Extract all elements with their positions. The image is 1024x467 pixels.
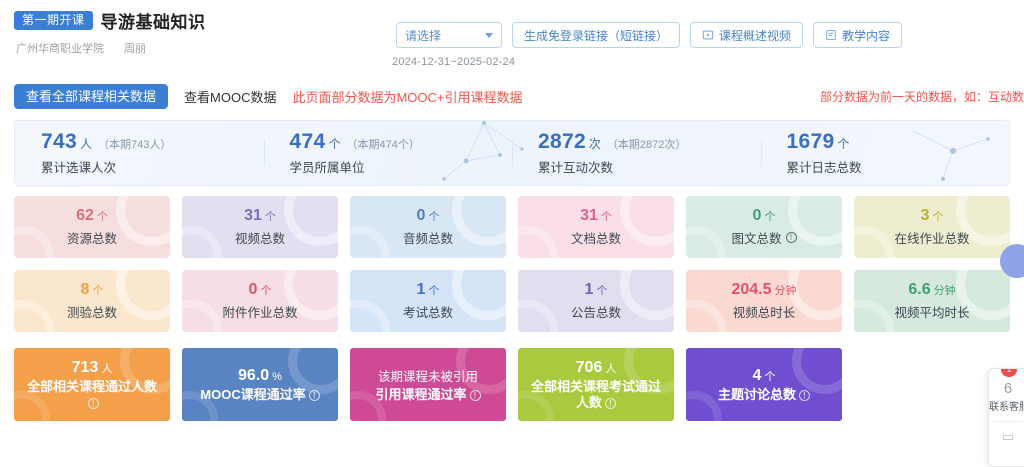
metric-label: 视频总时长 [733,302,796,321]
metric-value: 204.5 [731,281,771,299]
info-icon[interactable]: ! [88,398,99,409]
metric-label: 图文总数 [731,228,781,247]
stat-value: 2872 [538,130,586,154]
info-icon[interactable]: ! [309,390,320,401]
tile-unit: 人 [101,360,112,376]
page-header: 第一期开课 导游基础知识 广州华商职业学院 周丽 请选择 生成免登录链接（短链接… [0,0,1024,78]
metric-value: 1 [585,281,594,299]
teaching-content-label: 教学内容 [842,27,890,44]
tile-headline: 该期课程未被引用 [378,366,478,385]
metric-card: 0个音频总数 [350,196,506,258]
stat-unit: 人 [80,135,92,152]
teacher-name: 周丽 [124,40,146,56]
tile-value: 706 [576,359,603,377]
metric-label: 考试总数 [403,302,453,321]
generate-link-button[interactable]: 生成免登录链接（短链接） [512,22,680,48]
metric-card-grid: 62个资源总数31个视频总数0个音频总数31个文档总数0个图文总数!3个在线作业… [14,196,1010,332]
metric-card: 204.5分钟视频总时长 [686,270,842,332]
tab-row: 查看全部课程相关数据 查看MOOC数据 此页面部分数据为MOOC+引用课程数据 … [14,80,1010,112]
stat-label: 累计互动次数 [538,157,761,176]
tile-label: 全部相关课程考试通过人数 [531,379,661,410]
metric-card: 1个公告总数 [518,270,674,332]
metric-value: 31 [580,207,598,225]
metric-card: 0个图文总数! [686,196,842,258]
stat-unit: 个 [837,135,849,152]
stat-logs: 1679 个 累计日志总数 [761,130,1010,176]
metric-unit: 个 [764,208,775,224]
stat-label: 学员所属单位 [290,157,513,176]
metric-unit: 个 [428,282,439,298]
decoration-circle [452,196,506,246]
decoration-circle [686,391,722,421]
metric-label: 文档总数 [571,228,621,247]
period-select-value: 请选择 [405,27,441,44]
stat-paren: （本期743人） [98,136,171,152]
metric-label: 测验总数 [67,302,117,321]
stat-value: 1679 [787,130,835,154]
metric-unit: 个 [601,208,612,224]
summary-tile: 4个主题讨论总数! [686,348,842,421]
decoration-circle [14,226,54,258]
stat-value: 474 [290,130,326,154]
stat-paren: （本期2872次） [607,136,686,152]
metric-card: 3个在线作业总数 [854,196,1010,258]
tile-value: 96.0 [238,367,269,385]
metric-label: 音频总数 [403,228,453,247]
summary-tile: 96.0%MOOC课程通过率! [182,348,338,421]
info-icon[interactable]: ! [786,232,797,243]
metric-value: 3 [921,207,930,225]
metric-label: 公告总数 [571,302,621,321]
page-data-note: 此页面部分数据为MOOC+引用课程数据 [292,87,522,106]
metric-unit: 个 [97,208,108,224]
decoration-circle [350,226,390,258]
metric-card: 8个测验总数 [14,270,170,332]
customer-service-panel[interactable]: 1 6 联系客服 ▭ [988,368,1024,467]
metric-value: 1 [417,281,426,299]
service-label: 联系客服 [989,398,1024,413]
metric-card: 31个文档总数 [518,196,674,258]
summary-tile-grid: 713人全部相关课程通过人数!96.0%MOOC课程通过率!该期课程未被引用引用… [14,348,1010,421]
decoration-circle [854,300,894,332]
info-icon[interactable]: ! [799,390,810,401]
summary-tile: 706人全部相关课程考试通过人数! [518,348,674,421]
decoration-circle [350,300,390,332]
decoration-circle [518,226,558,258]
teaching-content-button[interactable]: 教学内容 [813,22,902,48]
stat-value: 743 [41,130,77,154]
metric-label: 资源总数 [67,228,117,247]
stale-data-warning: 部分数据为前一天的数据，如：互动数 [820,88,1024,105]
metric-unit: 个 [596,282,607,298]
summary-tile: 713人全部相关课程通过人数! [14,348,170,421]
metric-unit: 个 [428,208,439,224]
decoration-circle [182,226,222,258]
metric-card: 1个考试总数 [350,270,506,332]
stat-label: 累计日志总数 [787,157,1010,176]
date-range-text: 2024-12-31~2025-02-24 [392,56,515,68]
video-icon [702,29,714,41]
generate-link-label: 生成免登录链接（短链接） [524,27,668,44]
metric-value: 0 [417,207,426,225]
tile-label: 主题讨论总数 [718,387,796,402]
document-icon [825,29,837,41]
summary-stats-band: 743 人 （本期743人） 累计选课人次 474 个 （本期474个） 学员所… [14,120,1010,186]
decoration-circle [14,300,54,332]
decoration-circle [182,300,222,332]
stat-unit: 次 [589,135,601,152]
decoration-circle [518,300,558,332]
service-count: 6 [989,381,1024,396]
decoration-circle [452,270,506,320]
metric-label: 视频总数 [235,228,285,247]
tile-label: MOOC课程通过率 [200,387,305,402]
metric-value: 8 [81,281,90,299]
metric-label: 在线作业总数 [894,228,969,247]
stat-unit: 个 [328,135,340,152]
info-icon[interactable]: ! [470,390,481,401]
metric-value: 62 [76,207,94,225]
decoration-circle [284,196,338,246]
tile-unit: 人 [605,360,616,376]
decoration-circle [620,270,674,320]
chat-icon[interactable]: ▭ [989,429,1024,445]
stat-label: 累计选课人次 [41,157,264,176]
stat-interactions: 2872 次 （本期2872次） 累计互动次数 [512,130,761,176]
summary-tile: 该期课程未被引用引用课程通过率! [350,348,506,421]
metric-unit: 个 [92,282,103,298]
decoration-circle [620,196,674,246]
metric-value: 0 [753,207,762,225]
stat-enrollments: 743 人 （本期743人） 累计选课人次 [15,130,264,176]
tile-label: 引用课程通过率 [375,387,466,402]
metric-unit: 个 [265,208,276,224]
metric-label: 附件作业总数 [222,302,297,321]
metric-unit: 个 [932,208,943,224]
metric-unit: 分钟 [934,282,956,298]
metric-value: 31 [244,207,262,225]
decoration-circle [116,270,170,320]
page-root: 第一期开课 导游基础知识 广州华商职业学院 周丽 请选择 生成免登录链接（短链接… [0,0,1024,467]
decoration-circle [854,226,894,258]
period-select[interactable]: 请选择 [396,22,502,48]
page-title: 导游基础知识 [101,8,206,33]
stat-paren: （本期474个） [346,136,419,152]
header-toolbar: 请选择 生成免登录链接（短链接） 课程概述视频 教学内容 [396,22,902,48]
divider [993,421,1023,422]
term-badge: 第一期开课 [14,11,93,30]
tile-label: 全部相关课程通过人数 [27,379,157,394]
metric-card: 0个附件作业总数 [182,270,338,332]
chevron-down-icon [485,33,493,38]
decoration-circle [686,226,726,258]
metric-card: 31个视频总数 [182,196,338,258]
tile-value: 713 [72,359,99,377]
decoration-circle [686,300,726,332]
tab-mooc-data[interactable]: 查看MOOC数据 [184,87,276,106]
metric-unit: 分钟 [775,282,797,298]
decoration-circle [116,196,170,246]
course-overview-video-button[interactable]: 课程概述视频 [690,22,803,48]
metric-label: 视频平均时长 [894,302,969,321]
metric-value: 0 [249,281,258,299]
info-icon[interactable]: ! [605,398,616,409]
metric-unit: 个 [260,282,271,298]
metric-value: 6.6 [908,281,930,299]
tile-unit: 个 [764,368,775,384]
tab-all-course-data[interactable]: 查看全部课程相关数据 [14,84,168,109]
metric-card: 62个资源总数 [14,196,170,258]
tile-unit: % [272,371,282,383]
notification-badge: 1 [1001,368,1017,377]
school-name: 广州华商职业学院 [16,40,104,56]
course-overview-video-label: 课程概述视频 [719,27,791,44]
tile-value: 4 [753,367,762,385]
metric-card: 6.6分钟视频平均时长 [854,270,1010,332]
stat-units: 474 个 （本期474个） 学员所属单位 [264,130,513,176]
